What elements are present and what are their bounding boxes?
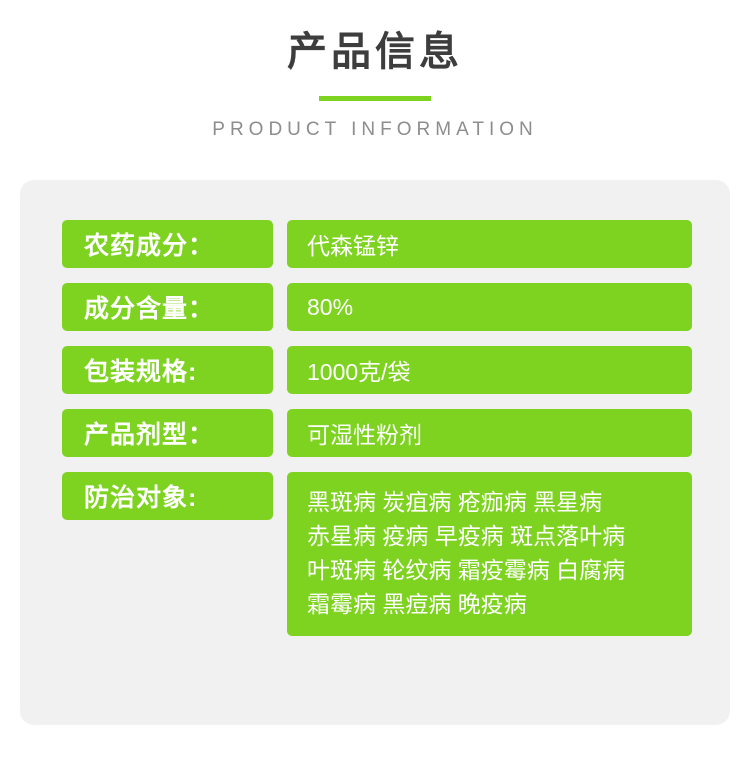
spec-row: 成分含量： 80% (62, 283, 692, 331)
spec-row: 防治对象: 黑斑病 炭疽病 疮痂病 黑星病 赤星病 疫病 早疫病 斑点落叶病 叶… (62, 472, 692, 636)
title-underline-rule (319, 96, 431, 101)
page-title: 产品信息 (0, 26, 750, 78)
spec-card: 农药成分： 代森锰锌 成分含量： 80% 包装规格: 1000克/袋 产品剂型：… (20, 180, 730, 725)
spec-label-content: 成分含量： (62, 283, 273, 331)
spec-label-formulation: 产品剂型： (62, 409, 273, 457)
target-line: 霜霉病 黑痘病 晚疫病 (307, 587, 672, 621)
spec-value-content: 80% (287, 283, 692, 331)
spec-row: 农药成分： 代森锰锌 (62, 220, 692, 268)
page-subtitle: PRODUCT INFORMATION (0, 119, 750, 141)
spec-row: 产品剂型： 可湿性粉剂 (62, 409, 692, 457)
target-line: 赤星病 疫病 早疫病 斑点落叶病 (307, 519, 672, 553)
spec-table: 农药成分： 代森锰锌 成分含量： 80% 包装规格: 1000克/袋 产品剂型：… (62, 220, 692, 636)
spec-row: 包装规格: 1000克/袋 (62, 346, 692, 394)
spec-value-ingredient: 代森锰锌 (287, 220, 692, 268)
spec-label-ingredient: 农药成分： (62, 220, 273, 268)
spec-label-packaging: 包装规格: (62, 346, 273, 394)
spec-label-targets: 防治对象: (62, 472, 273, 520)
target-line: 黑斑病 炭疽病 疮痂病 黑星病 (307, 485, 672, 519)
spec-value-formulation: 可湿性粉剂 (287, 409, 692, 457)
spec-value-targets: 黑斑病 炭疽病 疮痂病 黑星病 赤星病 疫病 早疫病 斑点落叶病 叶斑病 轮纹病… (287, 472, 692, 636)
spec-value-packaging: 1000克/袋 (287, 346, 692, 394)
page-header: 产品信息 PRODUCT INFORMATION (0, 0, 750, 141)
product-info-page: 产品信息 PRODUCT INFORMATION 农药成分： 代森锰锌 成分含量… (0, 0, 750, 760)
target-line: 叶斑病 轮纹病 霜疫霉病 白腐病 (307, 553, 672, 587)
